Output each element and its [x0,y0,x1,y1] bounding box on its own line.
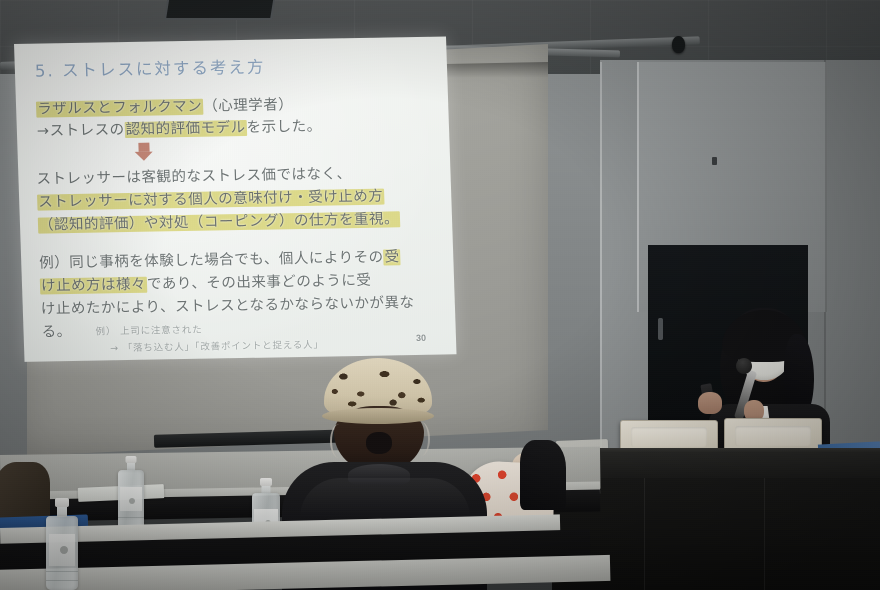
bottle-ring-2 [46,580,78,581]
crt-right-recess [735,426,812,446]
slide-line-5-highlight: （認知的評価）や対処（コーピング）の仕方を重視。 [38,211,401,233]
bottle-cap [260,478,272,486]
slide-line-9: る。 [41,320,72,342]
slide-line-6-pre: 例）同じ事柄を体験した場合でも、個人によりその [39,250,384,272]
slide-subexample-1: 例） 上司に注意された [95,322,202,338]
bottle-cap [55,498,69,507]
lecture-room-photo: 5. ストレスに対する考え方 ラザルスとフォルクマン（心理学者） →ストレスの認… [0,0,880,590]
bottle-body [46,516,78,590]
podium-seam-1 [644,478,645,590]
ceiling-air-vent [164,0,276,20]
partial-person-right [520,440,566,510]
slide-line-5: （認知的評価）や対処（コーピング）の仕方を重視。 [38,207,401,234]
slide-line-7: け止め方は様々であり、その出来事どのように受 [40,269,372,296]
slide-line-6-highlight: 受 [383,249,401,265]
water-bottle-mid-center [118,456,144,530]
crt-left-recess [631,427,708,446]
slide-line-4-highlight: ストレッサーに対する個人の意味付け・受け止め方 [37,189,385,211]
ceiling-sensor-icon [672,36,685,53]
slide-line-1-rest: （心理学者） [203,97,294,115]
slide-line-7-rest: であり、その出来事どのように受 [147,273,372,293]
slide-page-number: 30 [416,333,426,343]
water-bottle-front-left [46,498,78,590]
door-fixture-icon [712,157,717,165]
bottle-ring [118,517,144,518]
slide-subexample-2: → 「落ち込む人」「改善ポイントと捉える人」 [110,337,324,355]
down-arrow-icon [138,143,149,152]
attendee-shoulder-highlight [300,478,470,518]
slide-line-1-highlight: ラザルスとフォルクマン [36,99,204,118]
bottle-cap [126,456,137,463]
slide-title: 5. ストレスに対する考え方 [34,54,265,82]
slide-line-7-highlight: け止め方は様々 [40,277,148,295]
bottle-label-mark [60,546,68,554]
slide-line-2-pre: →ストレスの [37,122,125,140]
door-handle[interactable] [658,318,663,340]
slide-line-1: ラザルスとフォルクマン（心理学者） [36,93,294,118]
mask-ear-loop-left [330,424,348,458]
slide-line-3: ストレッサーは客観的なストレス価ではなく、 [36,162,352,188]
mask-ear-loop-right [412,422,430,456]
bottle-label-mark [129,498,135,504]
bottle-ring [46,571,78,572]
slide-line-8: け止めたかにより、ストレスとなるかならないかが異な [40,291,414,319]
slide-line-2: →ストレスの認知的評価モデルを示した。 [37,115,322,141]
presenter-hand-holding-remote [698,392,722,414]
wall-seam-left [600,62,602,492]
podium-seam-2 [764,478,765,590]
projected-slide: 5. ストレスに対する考え方 ラザルスとフォルクマン（心理学者） →ストレスの認… [14,36,457,361]
slide-line-2-highlight: 認知的評価モデル [124,120,247,138]
attendee-hair-bun [366,432,392,454]
bottle-body [118,470,144,530]
slide-line-2-rest: を示した。 [246,119,322,136]
